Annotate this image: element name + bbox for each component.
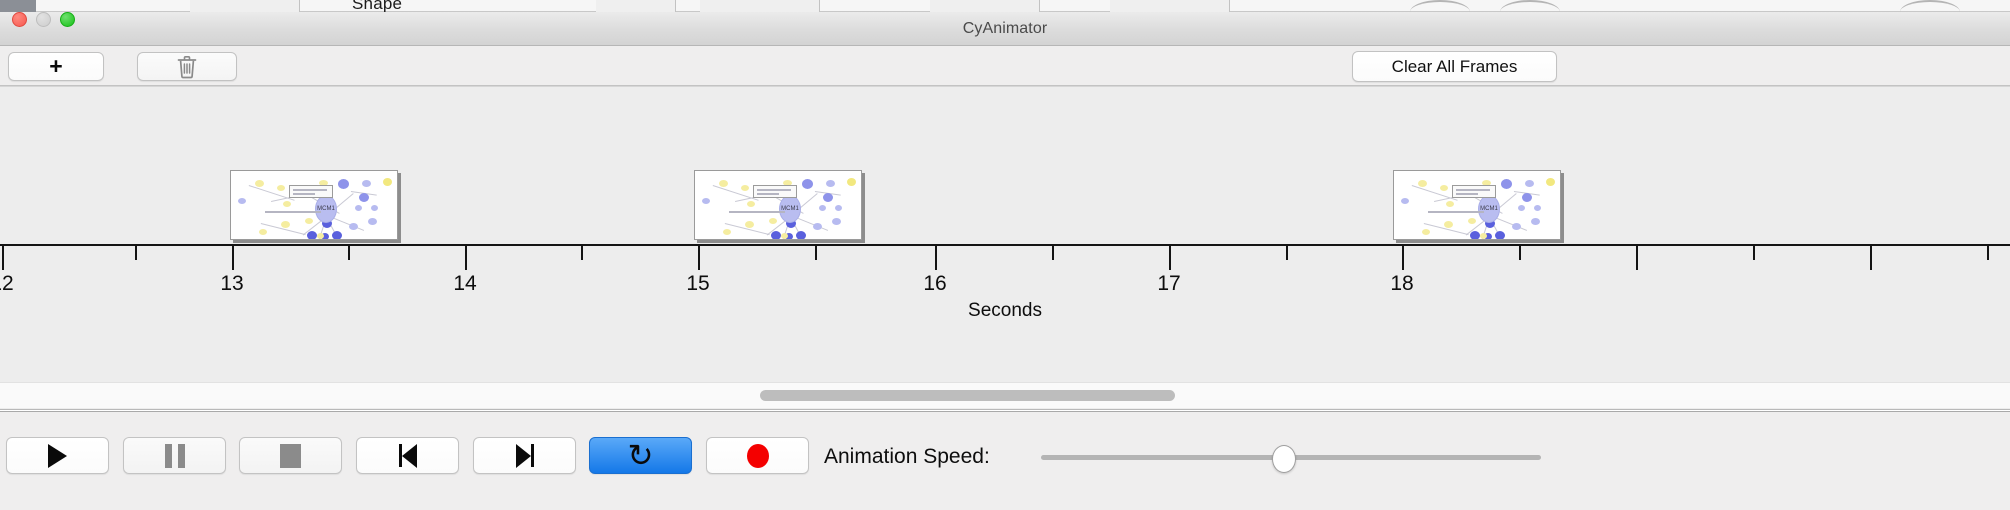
loop-button[interactable]: ↻	[589, 437, 692, 474]
ruler-tick	[1169, 246, 1171, 270]
background-arc	[1500, 0, 1560, 12]
skip-back-icon	[399, 444, 417, 468]
minimize-button[interactable]	[36, 12, 51, 27]
background-dark-block	[0, 0, 36, 12]
background-tab	[700, 0, 820, 12]
window-titlebar[interactable]: CyAnimator	[0, 12, 2010, 46]
window-title: CyAnimator	[963, 20, 1048, 38]
ruler-tick	[1870, 246, 1872, 270]
ruler-tick	[1286, 246, 1288, 260]
timeline-divider	[0, 86, 2010, 87]
clear-all-frames-label: Clear All Frames	[1392, 57, 1518, 77]
skip-forward-button[interactable]	[473, 437, 576, 474]
skip-forward-icon	[516, 444, 534, 468]
animation-speed-slider-thumb[interactable]	[1272, 445, 1296, 473]
stop-button[interactable]	[239, 437, 342, 474]
ruler-tick	[232, 246, 234, 270]
ruler-tick	[348, 246, 350, 260]
hub-node-label: MCM1	[1478, 195, 1500, 223]
clear-all-frames-button[interactable]: Clear All Frames	[1352, 51, 1557, 82]
loop-icon: ↻	[628, 440, 654, 471]
ruler-tick	[1052, 246, 1054, 260]
play-icon	[48, 444, 67, 468]
ruler-tick	[1753, 246, 1755, 260]
network-graph-thumbnail: MCM1	[695, 171, 861, 239]
plus-icon: +	[49, 55, 62, 78]
ruler-tick	[1402, 246, 1404, 270]
ruler-baseline	[0, 244, 2010, 246]
ruler-tick-label: 13	[220, 272, 243, 296]
add-frame-button[interactable]: +	[8, 52, 104, 81]
annotation-box	[753, 185, 797, 198]
record-button[interactable]	[706, 437, 809, 474]
ruler-tick-label: 12	[0, 272, 14, 296]
play-button[interactable]	[6, 437, 109, 474]
zoom-button[interactable]	[60, 12, 75, 27]
timeline-frame-thumbnail[interactable]: MCM1	[230, 170, 398, 240]
background-app-strip: Shape	[0, 0, 2010, 12]
traffic-light-group	[12, 12, 75, 27]
ruler-tick	[1636, 246, 1638, 270]
skip-back-button[interactable]	[356, 437, 459, 474]
ruler-tick-label: 16	[923, 272, 946, 296]
frame-toolbar: + Clear All Frames	[0, 46, 2010, 86]
timeline-frame-thumbnail[interactable]: MCM1	[1393, 170, 1561, 240]
pause-icon	[165, 444, 185, 468]
background-tab	[190, 0, 300, 12]
ruler-tick	[465, 246, 467, 270]
close-button[interactable]	[12, 12, 27, 27]
trash-icon	[176, 55, 198, 79]
timeline-ruler[interactable]: 12131415161718 Seconds	[0, 244, 2010, 340]
timeline-panel[interactable]: MCM1	[0, 86, 2010, 410]
background-tab	[1110, 0, 1230, 12]
ruler-tick-label: 14	[453, 272, 476, 296]
cyanimator-window: Shape CyAnimator + Clear All Frames	[0, 0, 2010, 510]
ruler-tick-label: 18	[1390, 272, 1413, 296]
stop-icon	[280, 444, 301, 468]
annotation-box	[289, 185, 333, 198]
ruler-tick	[698, 246, 700, 270]
playback-control-bar: ↻ Animation Speed:	[0, 411, 2010, 510]
animation-speed-label: Animation Speed:	[824, 445, 990, 469]
background-arc	[1900, 0, 1960, 12]
ruler-tick	[581, 246, 583, 260]
hub-node-label: MCM1	[779, 195, 801, 223]
hub-node-label: MCM1	[315, 195, 337, 223]
record-icon	[747, 444, 769, 468]
annotation-box	[1452, 185, 1496, 198]
ruler-tick-label: 17	[1157, 272, 1180, 296]
ruler-tick	[935, 246, 937, 270]
ruler-tick	[1519, 246, 1521, 260]
background-tab	[596, 0, 676, 12]
ruler-tick-label: 15	[686, 272, 709, 296]
ruler-tick	[815, 246, 817, 260]
pause-button[interactable]	[123, 437, 226, 474]
background-arc	[1410, 0, 1470, 12]
timeline-scrollbar-thumb[interactable]	[760, 390, 1175, 401]
ruler-tick	[2, 246, 4, 270]
ruler-tick	[135, 246, 137, 260]
timeline-scrollbar[interactable]	[0, 382, 2010, 408]
timeline-frame-thumbnail[interactable]: MCM1	[694, 170, 862, 240]
network-graph-thumbnail: MCM1	[231, 171, 397, 239]
network-graph-thumbnail: MCM1	[1394, 171, 1560, 239]
background-tab	[930, 0, 1040, 12]
timeline-axis-label: Seconds	[0, 300, 2010, 322]
ruler-tick	[1987, 246, 1989, 260]
delete-frame-button[interactable]	[137, 52, 237, 81]
